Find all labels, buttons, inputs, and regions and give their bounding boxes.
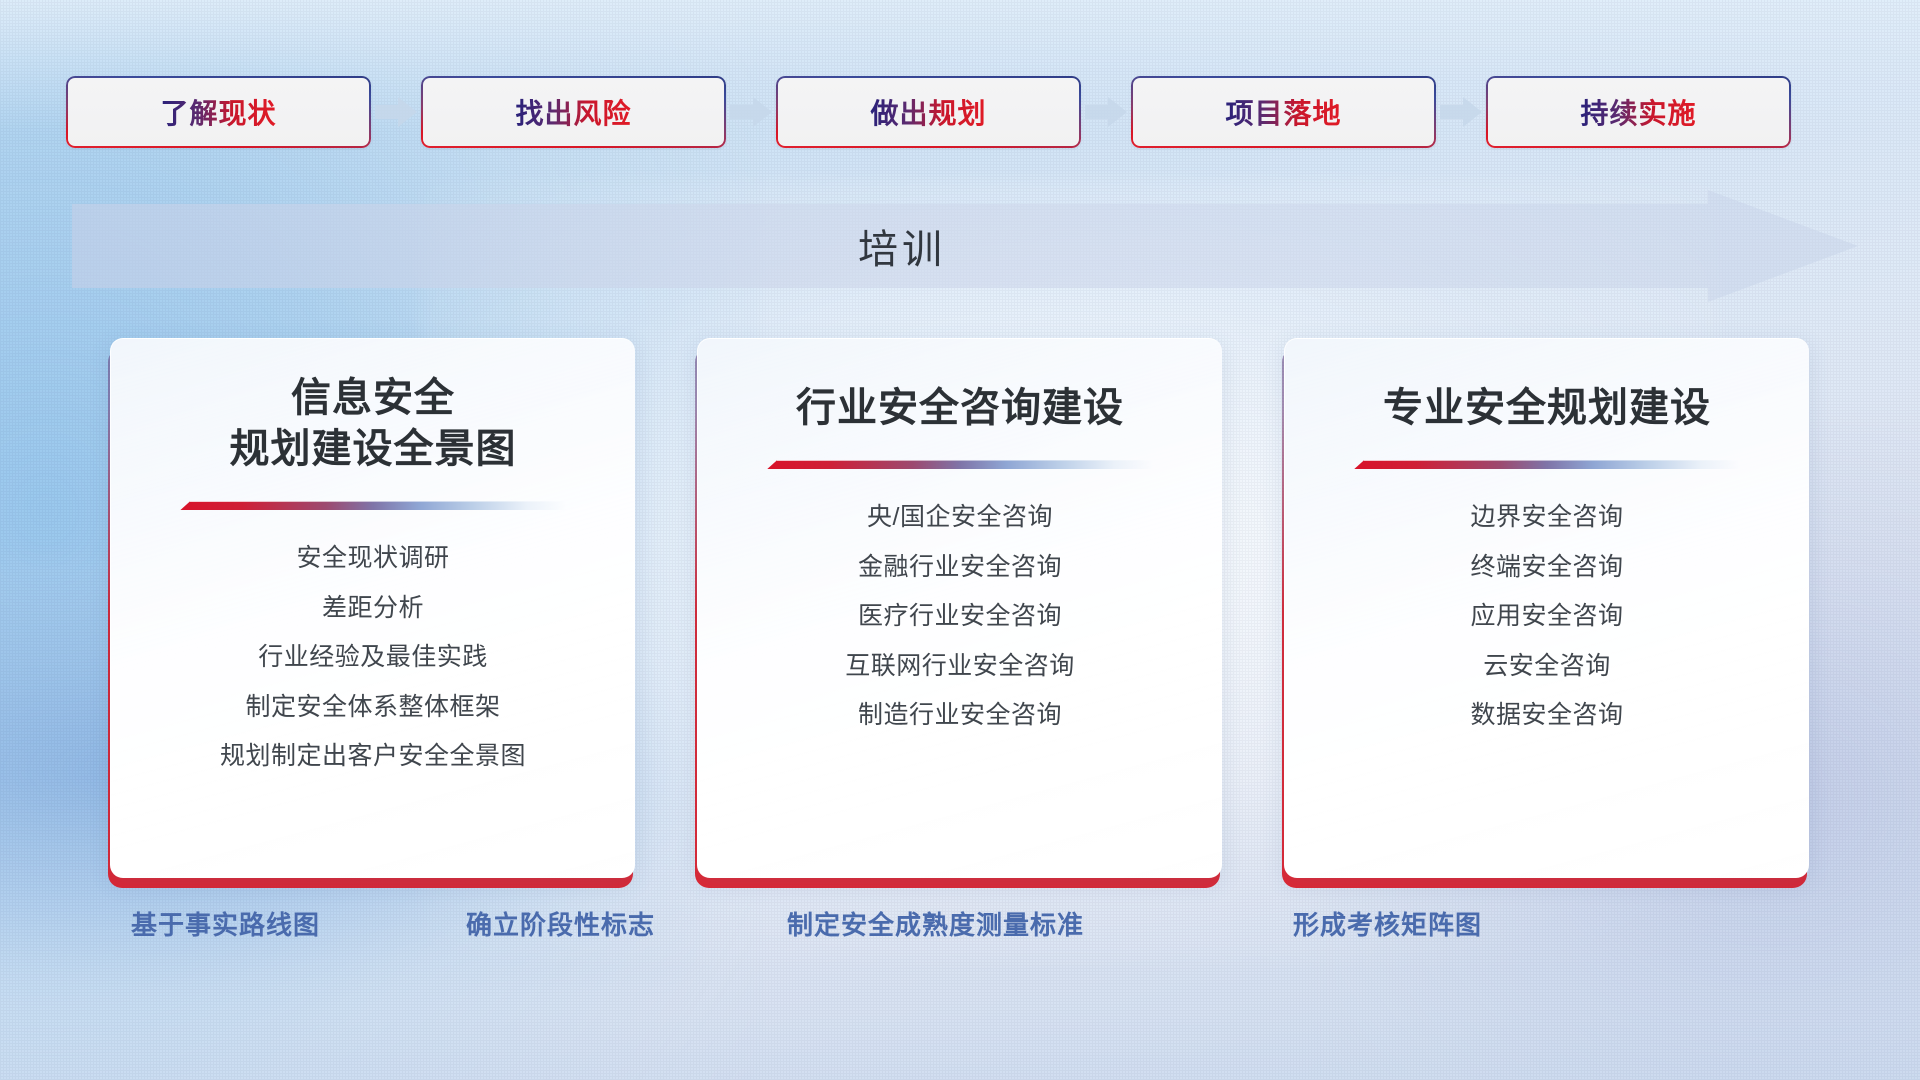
step-box-5[interactable]: 持续实施	[1486, 76, 1791, 148]
card-slot-3: 专业安全规划建设 边界安全咨询 终端安全咨询 应用安全咨询 云安全咨询 数据安全…	[1284, 338, 1809, 878]
list-item: 边界安全咨询	[1470, 499, 1623, 537]
step-box-3[interactable]: 做出规划	[776, 76, 1081, 148]
step-label-3: 做出规划	[870, 92, 986, 132]
banner-label: 培训	[72, 190, 1732, 302]
step-box-2[interactable]: 找出风险	[421, 76, 726, 148]
caption-1: 基于事实路线图	[131, 905, 320, 942]
card-title-2: 行业安全咨询建设	[698, 383, 1222, 434]
card-list-1: 安全现状调研 差距分析 行业经验及最佳实践 制定安全体系整体框架 规划制定出客户…	[111, 540, 635, 776]
step-group-5: 持续实施	[1486, 76, 1791, 148]
caption-3: 制定安全成熟度测量标准	[787, 905, 1084, 942]
slide-canvas: 了解现状 找出风险 做出规划	[0, 0, 1920, 1080]
step-label-1: 了解现状	[160, 92, 276, 132]
caption-row: 基于事实路线图 确立阶段性标志 制定安全成熟度测量标准 形成考核矩阵图	[0, 905, 1920, 965]
list-item: 安全现状调研	[296, 540, 449, 578]
list-item: 医疗行业安全咨询	[858, 598, 1062, 636]
card-slot-2: 行业安全咨询建设 央/国企安全咨询 金融行业安全咨询 医疗行业安全咨询 互联网行…	[697, 338, 1222, 878]
step-group-2: 找出风险	[421, 76, 776, 148]
list-item: 数据安全咨询	[1470, 697, 1623, 735]
step-group-3: 做出规划	[776, 76, 1131, 148]
caption-4: 形成考核矩阵图	[1293, 905, 1482, 942]
card-title-line: 规划建设全景图	[111, 424, 635, 475]
card-1[interactable]: 信息安全 规划建设全景图 安全现状调研 差距分析 行业经验及最佳实践 制定安全体…	[110, 338, 635, 878]
card-list-3: 边界安全咨询 终端安全咨询 应用安全咨询 云安全咨询 数据安全咨询	[1285, 499, 1809, 735]
process-step-row: 了解现状 找出风险 做出规划	[66, 76, 1856, 148]
card-title-line: 专业安全规划建设	[1285, 383, 1809, 434]
list-item: 应用安全咨询	[1470, 598, 1623, 636]
card-3[interactable]: 专业安全规划建设 边界安全咨询 终端安全咨询 应用安全咨询 云安全咨询 数据安全…	[1284, 338, 1809, 878]
card-title-1: 信息安全 规划建设全景图	[111, 373, 635, 475]
arrow-right-icon	[1081, 76, 1131, 148]
list-item: 制造行业安全咨询	[858, 697, 1062, 735]
card-slot-1: 信息安全 规划建设全景图 安全现状调研 差距分析 行业经验及最佳实践 制定安全体…	[110, 338, 635, 878]
list-item: 终端安全咨询	[1470, 549, 1623, 587]
step-label-5: 持续实施	[1580, 92, 1696, 132]
list-item: 互联网行业安全咨询	[845, 648, 1075, 686]
list-item: 云安全咨询	[1483, 648, 1611, 686]
card-divider	[767, 460, 1153, 469]
step-label-4: 项目落地	[1225, 92, 1341, 132]
arrow-right-icon	[1436, 76, 1486, 148]
arrow-right-icon	[726, 76, 776, 148]
list-item: 制定安全体系整体框架	[245, 689, 500, 727]
list-item: 规划制定出客户安全全景图	[220, 738, 526, 776]
training-banner: 培训	[72, 190, 1858, 302]
arrow-right-icon	[371, 76, 421, 148]
step-box-1[interactable]: 了解现状	[66, 76, 371, 148]
list-item: 金融行业安全咨询	[858, 549, 1062, 587]
step-box-4[interactable]: 项目落地	[1131, 76, 1436, 148]
list-item: 差距分析	[322, 590, 424, 628]
step-group-1: 了解现状	[66, 76, 421, 148]
list-item: 央/国企安全咨询	[867, 499, 1053, 537]
card-list-2: 央/国企安全咨询 金融行业安全咨询 医疗行业安全咨询 互联网行业安全咨询 制造行…	[698, 499, 1222, 735]
card-row: 信息安全 规划建设全景图 安全现状调研 差距分析 行业经验及最佳实践 制定安全体…	[110, 338, 1810, 878]
card-2[interactable]: 行业安全咨询建设 央/国企安全咨询 金融行业安全咨询 医疗行业安全咨询 互联网行…	[697, 338, 1222, 878]
card-title-line: 信息安全	[111, 373, 635, 424]
list-item: 行业经验及最佳实践	[258, 639, 488, 677]
caption-2: 确立阶段性标志	[466, 905, 655, 942]
card-title-3: 专业安全规划建设	[1285, 383, 1809, 434]
step-group-4: 项目落地	[1131, 76, 1486, 148]
card-divider	[1354, 460, 1740, 469]
card-divider	[180, 501, 566, 510]
card-title-line: 行业安全咨询建设	[698, 383, 1222, 434]
step-label-2: 找出风险	[515, 92, 631, 132]
